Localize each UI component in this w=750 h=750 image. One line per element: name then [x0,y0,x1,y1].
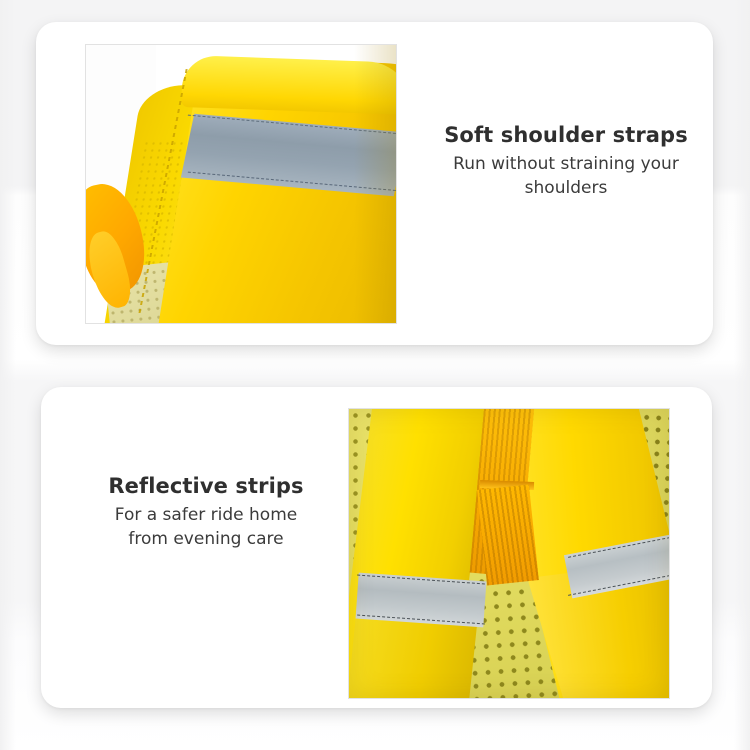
product-photo-shoulder-strap [85,44,397,324]
feature-subtitle-1-line-2: shoulders [436,177,696,200]
feature-title-1: Soft shoulder straps [436,122,696,148]
photo-right-shading [354,45,396,323]
left-edge-shade [0,0,16,750]
photo-scene [349,409,669,698]
feature-text-block-1: Soft shoulder straps Run without straini… [436,122,696,200]
product-photo-reflective-strips [348,408,670,699]
photo-scene [86,45,396,323]
feature-title-2: Reflective strips [61,473,351,499]
right-edge-shade [734,0,750,750]
photo-vignette [349,409,669,698]
feature-subtitle-1-line-1: Run without straining your [436,153,696,176]
feature-subtitle-2-line-1: For a safer ride home [61,504,351,527]
feature-subtitle-2-line-2: from evening care [61,528,351,551]
feature-text-block-2: Reflective strips For a safer ride home … [61,473,351,551]
feature-card-reflective-strips[interactable]: Reflective strips For a safer ride home … [41,387,712,708]
feature-card-soft-shoulder-straps[interactable]: Soft shoulder straps Run without straini… [36,22,713,345]
